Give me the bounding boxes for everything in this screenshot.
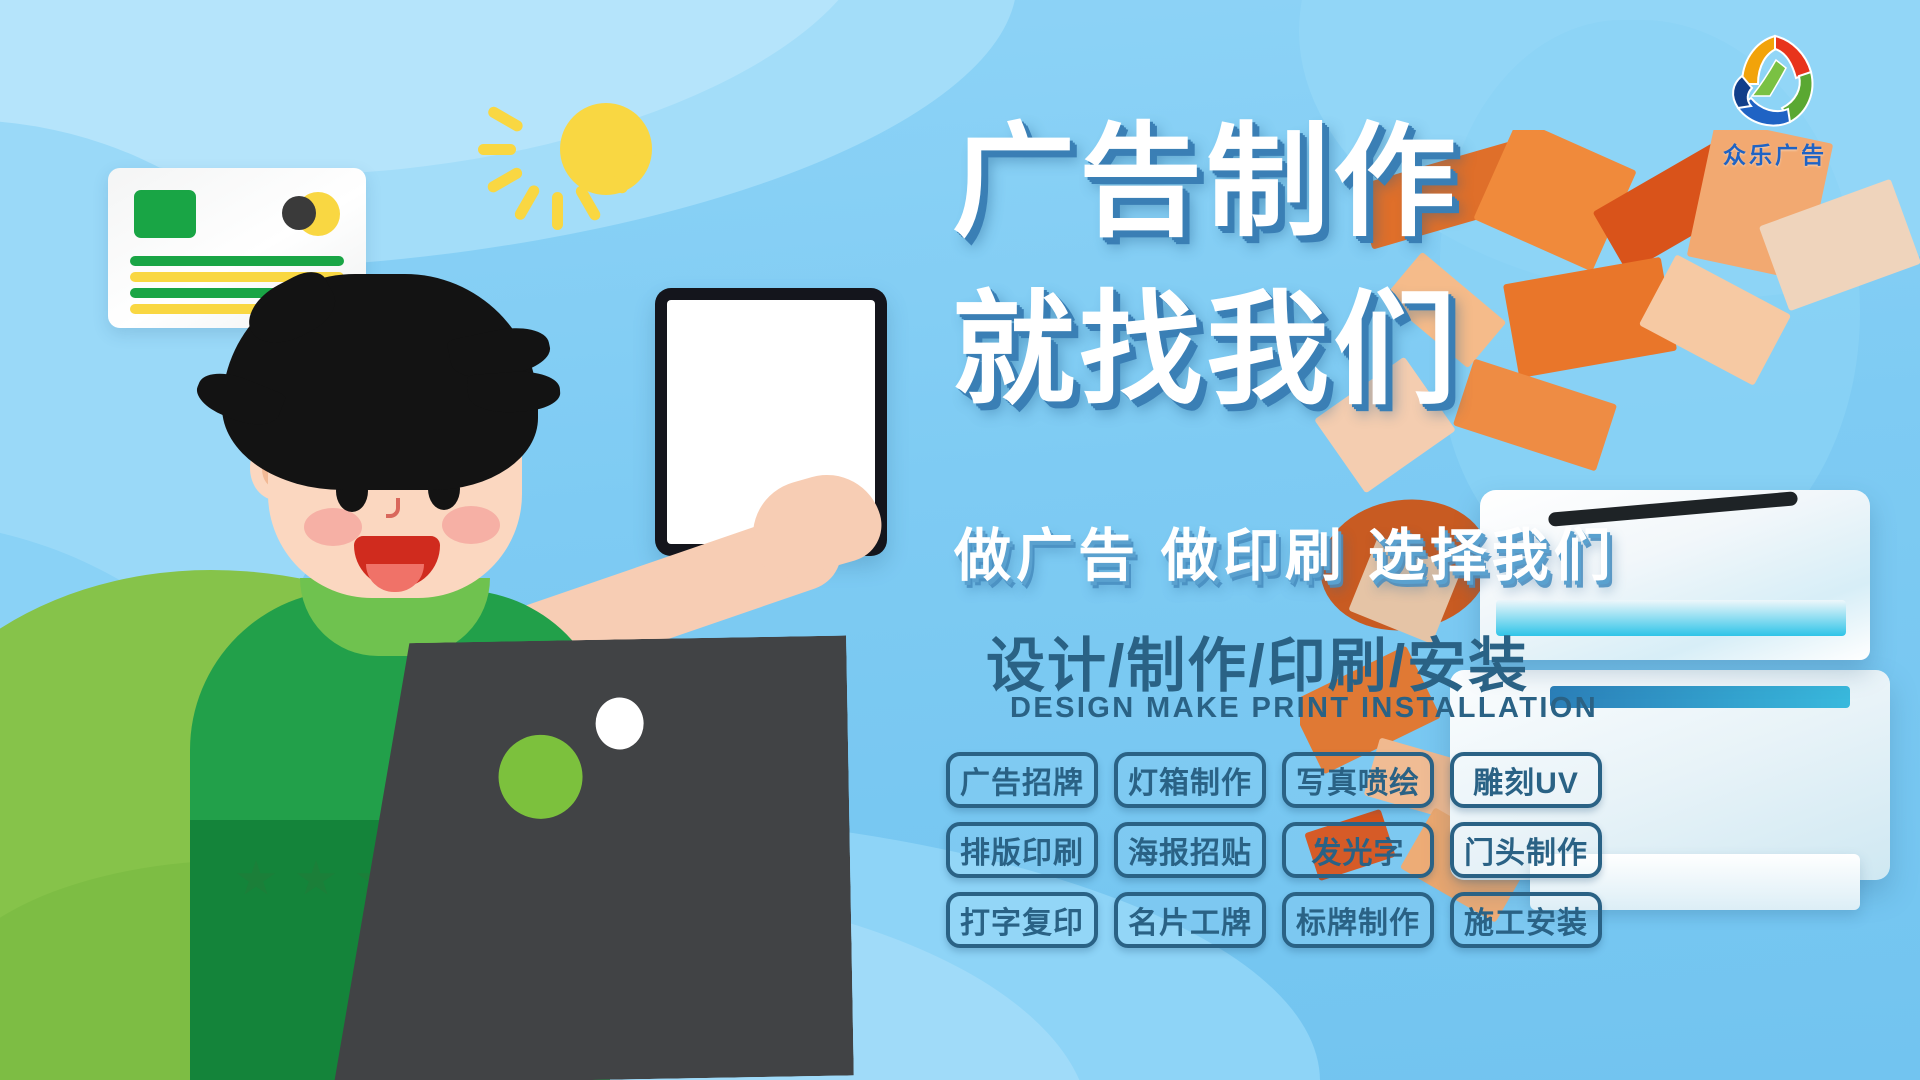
- advertising-banner: 众乐广告 广告制作 就找我们 做广告 做印刷 选择我们 设计/制作/印刷/安装 …: [0, 0, 1920, 1080]
- person-cheek-left: [304, 508, 362, 546]
- service-tag[interactable]: 名片工牌: [1114, 892, 1266, 948]
- service-tag[interactable]: 排版印刷: [946, 822, 1098, 878]
- services-english: DESIGN MAKE PRINT INSTALLATION: [1010, 692, 1598, 725]
- services-chinese: 设计/制作/印刷/安装: [986, 618, 1529, 703]
- card-dot-dark: [282, 196, 316, 230]
- sun-ray: [600, 145, 638, 156]
- sun-ray: [552, 192, 563, 230]
- laptop-white-circle: [595, 697, 644, 750]
- service-tag[interactable]: 雕刻UV: [1450, 752, 1602, 808]
- laptop-green-circle: [498, 734, 583, 819]
- sun-ray: [478, 144, 516, 155]
- person-hair-spike: [467, 369, 562, 415]
- service-tag[interactable]: 标牌制作: [1282, 892, 1434, 948]
- service-tag[interactable]: 发光字: [1282, 822, 1434, 878]
- sun-ray: [513, 183, 542, 221]
- service-tag[interactable]: 灯箱制作: [1114, 752, 1266, 808]
- service-tag[interactable]: 写真喷绘: [1282, 752, 1434, 808]
- brand-name: 众乐广告: [1685, 136, 1865, 170]
- service-tag-grid: 广告招牌灯箱制作写真喷绘雕刻UV排版印刷海报招贴发光字门头制作打字复印名片工牌标…: [946, 752, 1602, 948]
- laptop-illustration: [326, 635, 854, 1080]
- headline-text-block: 广告制作 就找我们 做广告 做印刷 选择我们 设计/制作/印刷/安装 DESIG…: [940, 0, 1700, 1080]
- sun-ray: [486, 105, 524, 134]
- service-tag[interactable]: 海报招贴: [1114, 822, 1266, 878]
- brand-logo: 众乐广告: [1685, 26, 1865, 176]
- headline-line-2: 就找我们: [952, 286, 1460, 415]
- card-logo-block: [134, 190, 196, 238]
- subheadline: 做广告 做印刷 选择我们: [954, 510, 1616, 592]
- sun-icon: [505, 55, 695, 245]
- headline-line-1: 广告制作: [952, 118, 1460, 247]
- sun-ray: [486, 166, 524, 195]
- service-tag[interactable]: 门头制作: [1450, 822, 1602, 878]
- tri-swirl-logo-icon: [1716, 26, 1834, 134]
- service-tag[interactable]: 广告招牌: [946, 752, 1098, 808]
- service-tag[interactable]: 施工安装: [1450, 892, 1602, 948]
- service-tag[interactable]: 打字复印: [946, 892, 1098, 948]
- person-cheek-right: [442, 506, 500, 544]
